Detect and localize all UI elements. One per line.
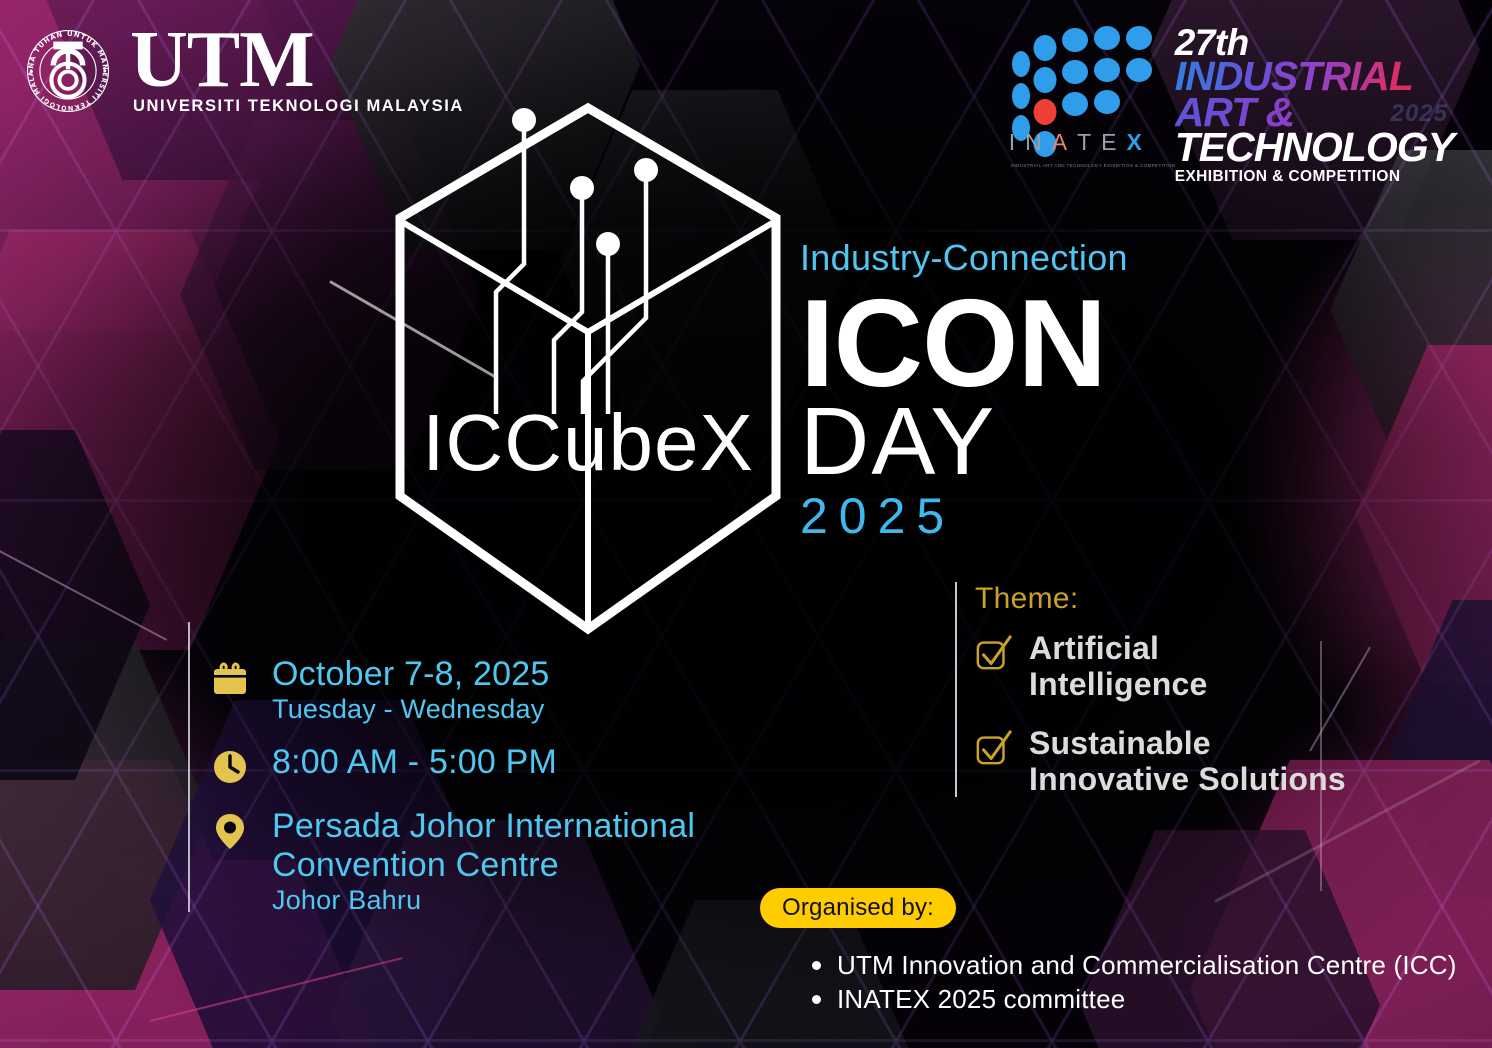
utm-wordmark: UTM [130, 26, 464, 95]
inatex-letter-e: E [1101, 129, 1120, 156]
event-title-block: Industry-Connection ICON DAY 2025 [800, 240, 1128, 541]
organised-by-block: Organised by: UTM Innovation and Commerc… [760, 888, 1457, 1017]
checkmark-icon [975, 729, 1013, 767]
detail-row-time: 8:00 AM - 5:00 PM [210, 743, 695, 789]
inatex-letter-t: T [1077, 129, 1095, 156]
detail-date-sub: Tuesday - Wednesday [272, 693, 549, 725]
inatex-tagline: INDUSTRIAL ART AND TECHNOLOGY EXHIBITION… [1011, 163, 1176, 168]
inatex-line-technology: TECHNOLOGY [1175, 130, 1454, 165]
theme-item: Artificial Intelligence [975, 630, 1346, 703]
location-pin-icon [210, 811, 250, 853]
inatex-line-exhibition: EXHIBITION & COMPETITION [1175, 168, 1454, 186]
detail-time-main: 8:00 AM - 5:00 PM [272, 743, 557, 781]
clock-icon [210, 747, 250, 789]
organiser-name: INATEX 2025 committee [837, 982, 1125, 1016]
detail-row-location: Persada Johor International Convention C… [210, 807, 695, 916]
inatex-letter-i: I [1009, 129, 1019, 156]
detail-row-date: October 7-8, 2025 Tuesday - Wednesday [210, 655, 695, 725]
theme-item: Sustainable Innovative Solutions [975, 725, 1346, 798]
inatex-wordmark: I N A T E X [1009, 129, 1146, 156]
utm-subtitle: UNIVERSITI TEKNOLOGI MALAYSIA [130, 97, 464, 116]
list-item: INATEX 2025 committee [812, 982, 1457, 1016]
detail-location-sub: Johor Bahru [272, 884, 695, 916]
theme-divider-line [955, 582, 957, 797]
details-divider-line [188, 622, 190, 912]
inatex-ghost-year: 2025 [1391, 100, 1448, 128]
utm-crest-icon: KERANA TUHAN UNTUK MANUSIA UNIVERSITI TE… [22, 25, 114, 117]
theme-item-text: Artificial Intelligence [1029, 630, 1207, 703]
bullet-icon [812, 961, 821, 970]
detail-date-text: October 7-8, 2025 Tuesday - Wednesday [272, 655, 549, 725]
detail-location-text: Persada Johor International Convention C… [272, 807, 695, 916]
list-item: UTM Innovation and Commercialisation Cen… [812, 948, 1457, 982]
inatex-letter-a: A [1052, 129, 1071, 156]
event-poster: KERANA TUHAN UNTUK MANUSIA UNIVERSITI TE… [0, 0, 1492, 1048]
inatex-letter-x: X [1126, 129, 1145, 156]
theme-item-line2: Intelligence [1029, 666, 1207, 702]
calendar-icon [210, 659, 250, 701]
theme-item-line2: Innovative Solutions [1029, 761, 1346, 797]
utm-wordmark-block: UTM UNIVERSITI TEKNOLOGI MALAYSIA [130, 26, 464, 116]
theme-item-line1: Sustainable [1029, 725, 1346, 761]
detail-date-main: October 7-8, 2025 [272, 655, 549, 693]
theme-item-text: Sustainable Innovative Solutions [1029, 725, 1346, 798]
inatex-logo: I N A T E X INDUSTRIAL ART AND TECHNOLOG… [999, 22, 1454, 186]
detail-location-line1: Persada Johor International [272, 807, 695, 845]
inatex-letter-n: N [1025, 129, 1046, 156]
utm-logo: KERANA TUHAN UNTUK MANUSIA UNIVERSITI TE… [22, 25, 464, 117]
checkmark-icon [975, 634, 1013, 672]
title-eyebrow: Industry-Connection [800, 240, 1128, 276]
detail-location-line2: Convention Centre [272, 846, 695, 884]
inatex-dot-mark-icon: I N A T E X INDUSTRIAL ART AND TECHNOLOG… [999, 22, 1171, 170]
iccubex-logo: ICCubeX [378, 96, 798, 641]
theme-item-line1: Artificial [1029, 630, 1207, 666]
organised-by-badge: Organised by: [760, 888, 956, 928]
iccubex-label: ICCubeX [422, 398, 754, 487]
organiser-name: UTM Innovation and Commercialisation Cen… [837, 948, 1457, 982]
organiser-list: UTM Innovation and Commercialisation Cen… [760, 948, 1457, 1017]
detail-time-text: 8:00 AM - 5:00 PM [272, 743, 557, 781]
event-details-block: October 7-8, 2025 Tuesday - Wednesday 8:… [210, 655, 695, 934]
bullet-icon [812, 995, 821, 1004]
title-year: 2025 [800, 491, 1128, 541]
inatex-title-block: 27th INDUSTRIAL ART & TECHNOLOGY 2025 EX… [1175, 22, 1454, 186]
theme-block: Theme: Artificial Intelligence [975, 582, 1346, 798]
theme-label: Theme: [975, 582, 1346, 616]
title-main: ICON [800, 286, 1128, 403]
